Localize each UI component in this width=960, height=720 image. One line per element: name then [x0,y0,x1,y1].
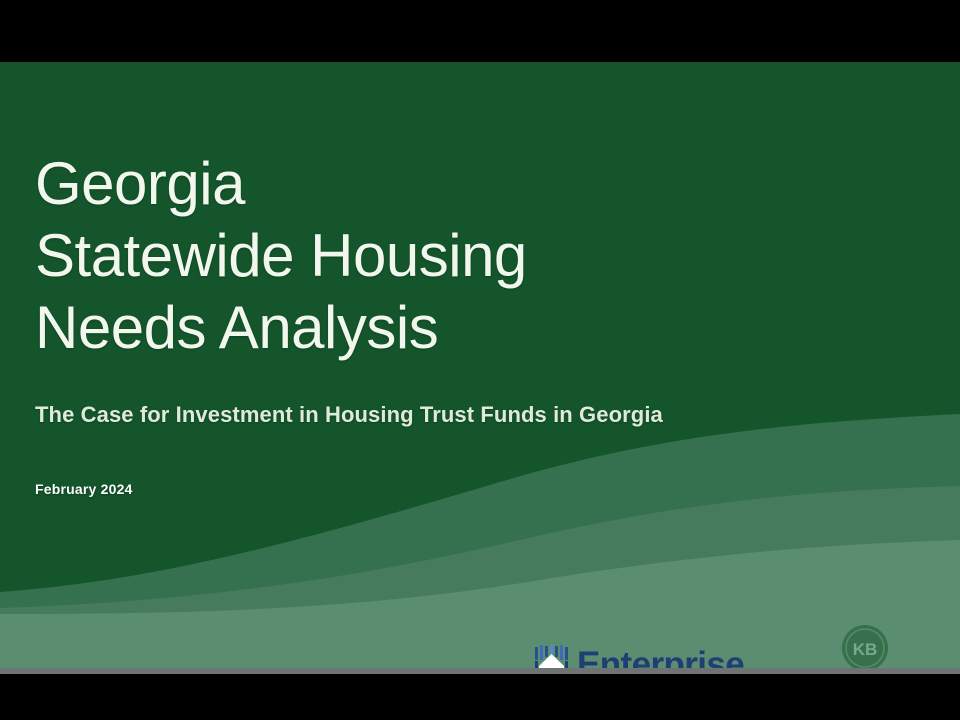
letterbox-bar-bottom [0,674,960,720]
house-icon [534,645,570,668]
publication-date: February 2024 [35,481,133,497]
kb-advisory-group-logo: KB KB ADVISORY GROUP [800,623,942,668]
enterprise-wordmark: Enterprise [577,647,744,668]
slide-viewer: Georgia Statewide Housing Needs Analysis… [0,0,960,720]
kb-badge-icon: KB [836,623,894,668]
report-cover-slide: Georgia Statewide Housing Needs Analysis… [0,62,960,668]
page-subtitle: The Case for Investment in Housing Trust… [35,402,663,428]
enterprise-logo: Enterprise [534,645,744,668]
svg-text:KB: KB [853,640,878,659]
letterbox-bar-top [0,0,960,62]
page-title: Georgia Statewide Housing Needs Analysis [35,148,795,364]
